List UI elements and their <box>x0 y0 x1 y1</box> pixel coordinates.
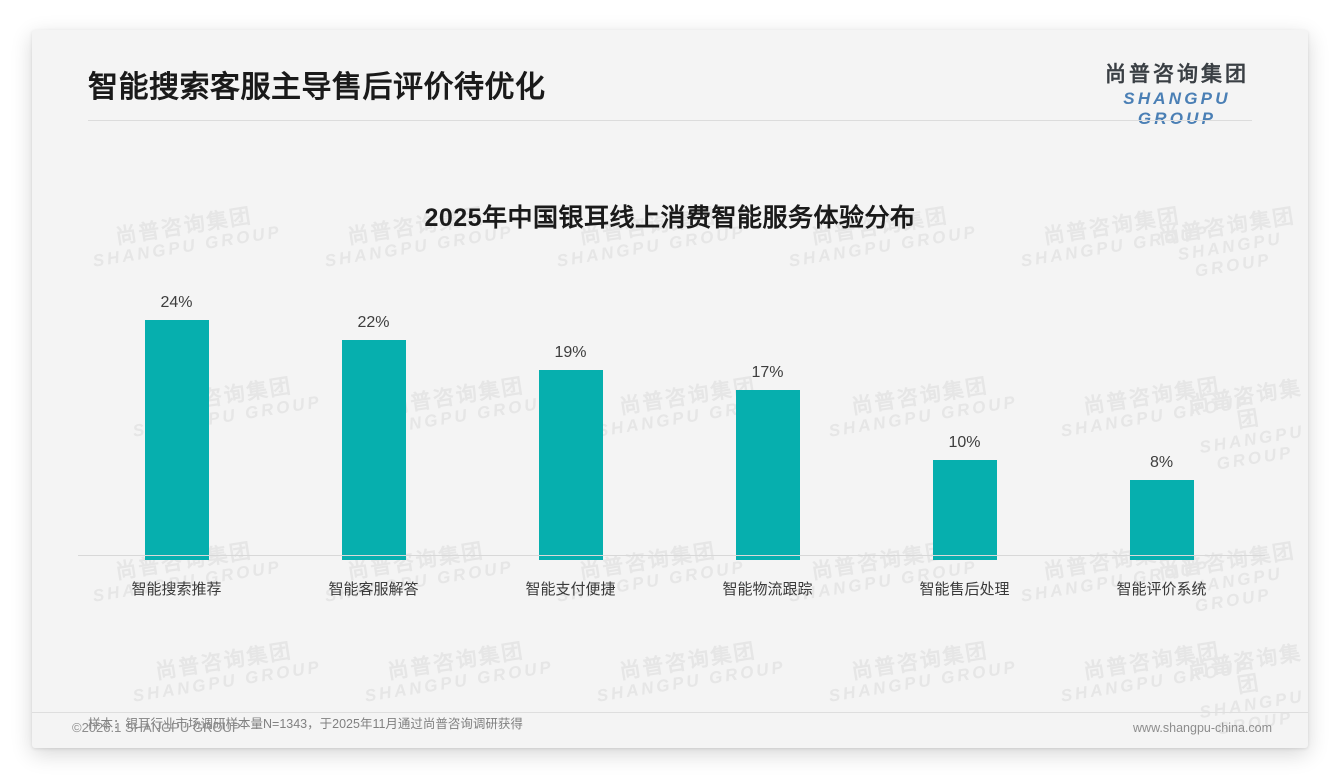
bar-value-label: 19% <box>554 344 586 362</box>
chart-title: 2025年中国银耳线上消费智能服务体验分布 <box>32 198 1308 234</box>
chart-bar[interactable] <box>1130 480 1194 560</box>
slide-header: 智能搜索客服主导售后评价待优化 尚普咨询集团 SHANGPU GROUP <box>32 30 1308 108</box>
bar-value-label: 24% <box>160 294 192 312</box>
bar-slot: 24% <box>78 300 275 560</box>
x-axis-category-label: 智能评价系统 <box>1063 578 1260 599</box>
bar-slot: 10% <box>866 300 1063 560</box>
bar-value-label: 17% <box>751 364 783 382</box>
x-axis-category-label: 智能支付便捷 <box>472 578 669 599</box>
chart-bar[interactable] <box>539 370 603 560</box>
website-link[interactable]: www.shangpu-china.com <box>1133 721 1272 735</box>
chart-bar[interactable] <box>145 320 209 560</box>
copyright-text: ©2026.1 SHANGPU GROUP <box>72 720 241 735</box>
company-logo: 尚普咨询集团 SHANGPU GROUP <box>1082 58 1272 129</box>
logo-text-cn: 尚普咨询集团 <box>1082 58 1272 88</box>
x-axis-line <box>78 555 1265 556</box>
slide-footer: ©2026.1 SHANGPU GROUP www.shangpu-china.… <box>32 712 1308 748</box>
bar-chart-plot: 24%22%19%17%10%8% <box>78 300 1278 560</box>
bar-slot: 17% <box>669 300 866 560</box>
chart-bar[interactable] <box>933 460 997 560</box>
bar-value-label: 10% <box>948 434 980 452</box>
logo-text-en: SHANGPU GROUP <box>1082 89 1272 129</box>
bar-slot: 22% <box>275 300 472 560</box>
x-axis-category-label: 智能客服解答 <box>275 578 472 599</box>
bar-value-label: 8% <box>1150 454 1173 472</box>
bar-slot: 8% <box>1063 300 1260 560</box>
x-axis-category-label: 智能搜索推荐 <box>78 578 275 599</box>
bar-slot: 19% <box>472 300 669 560</box>
chart-bar[interactable] <box>342 340 406 560</box>
chart-area: 2025年中国银耳线上消费智能服务体验分布 24%22%19%17%10%8% … <box>32 30 1308 748</box>
x-axis-category-label: 智能售后处理 <box>866 578 1063 599</box>
slide-canvas: 尚普咨询集团SHANGPU GROUP尚普咨询集团SHANGPU GROUP尚普… <box>32 30 1308 748</box>
header-divider <box>88 120 1252 121</box>
x-axis-category-label: 智能物流跟踪 <box>669 578 866 599</box>
page-title: 智能搜索客服主导售后评价待优化 <box>88 62 546 106</box>
chart-bar[interactable] <box>736 390 800 560</box>
bar-value-label: 22% <box>357 314 389 332</box>
